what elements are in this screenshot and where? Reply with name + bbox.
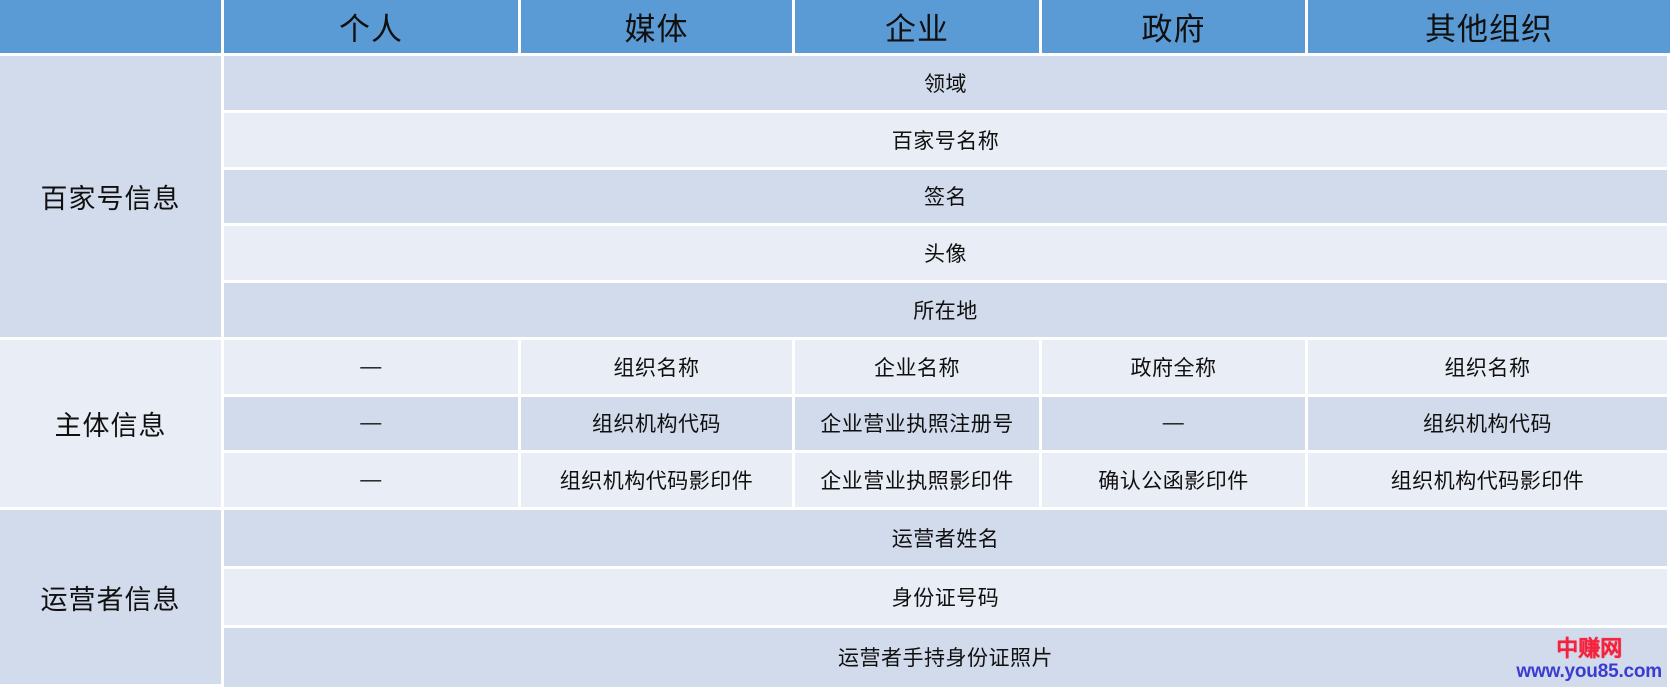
table-row: — 组织机构代码 企业营业执照注册号 — 组织机构代码 — [0, 397, 1670, 454]
cell-subject-name-other: 组织名称 — [1308, 340, 1670, 397]
cell-baijiahao-field-4: 所在地 — [224, 283, 1670, 340]
cell-subject-scan-other: 组织机构代码影印件 — [1308, 453, 1670, 510]
cell-operator-field-1: 身份证号码 — [224, 569, 1670, 628]
cell-subject-scan-person: — — [224, 453, 521, 510]
certification-requirements-table: 个人 媒体 企业 政府 其他组织 百家号信息 领域 百家号名称 签名 头像 — [0, 0, 1670, 687]
table-row: 百家号名称 — [0, 113, 1670, 170]
table-row: 运营者信息 运营者姓名 — [0, 510, 1670, 569]
cell-baijiahao-field-1: 百家号名称 — [224, 113, 1670, 170]
column-header-media: 媒体 — [521, 0, 795, 56]
table-row: 头像 — [0, 226, 1670, 283]
table-header: 个人 媒体 企业 政府 其他组织 — [0, 0, 1670, 56]
group-label-operator: 运营者信息 — [0, 510, 224, 687]
cell-subject-code-gov: — — [1042, 397, 1308, 454]
table-row: — 组织机构代码影印件 企业营业执照影印件 确认公函影印件 组织机构代码影印件 — [0, 453, 1670, 510]
column-header-person: 个人 — [224, 0, 521, 56]
cell-baijiahao-field-3: 头像 — [224, 226, 1670, 283]
group-label-baijiahao: 百家号信息 — [0, 56, 224, 340]
comparison-table-page: 个人 媒体 企业 政府 其他组织 百家号信息 领域 百家号名称 签名 头像 — [0, 0, 1670, 687]
table-row: 身份证号码 — [0, 569, 1670, 628]
cell-subject-code-media: 组织机构代码 — [521, 397, 795, 454]
cell-subject-name-media: 组织名称 — [521, 340, 795, 397]
header-corner-blank — [0, 0, 224, 56]
cell-operator-field-0: 运营者姓名 — [224, 510, 1670, 569]
column-header-gov: 政府 — [1042, 0, 1308, 56]
cell-subject-name-corp: 企业名称 — [795, 340, 1042, 397]
table-row: 所在地 — [0, 283, 1670, 340]
cell-subject-name-person: — — [224, 340, 521, 397]
cell-baijiahao-field-0: 领域 — [224, 56, 1670, 113]
table-row: 运营者手持身份证照片 — [0, 628, 1670, 687]
column-header-other: 其他组织 — [1308, 0, 1670, 56]
table-row: 签名 — [0, 170, 1670, 227]
header-row: 个人 媒体 企业 政府 其他组织 — [0, 0, 1670, 56]
cell-subject-code-corp: 企业营业执照注册号 — [795, 397, 1042, 454]
cell-subject-scan-gov: 确认公函影印件 — [1042, 453, 1308, 510]
cell-subject-code-person: — — [224, 397, 521, 454]
group-label-subject: 主体信息 — [0, 340, 224, 510]
cell-baijiahao-field-2: 签名 — [224, 170, 1670, 227]
cell-subject-scan-corp: 企业营业执照影印件 — [795, 453, 1042, 510]
cell-operator-field-2: 运营者手持身份证照片 — [224, 628, 1670, 687]
cell-subject-scan-media: 组织机构代码影印件 — [521, 453, 795, 510]
table-row: 百家号信息 领域 — [0, 56, 1670, 113]
cell-subject-code-other: 组织机构代码 — [1308, 397, 1670, 454]
table-row: 主体信息 — 组织名称 企业名称 政府全称 组织名称 — [0, 340, 1670, 397]
table-body: 百家号信息 领域 百家号名称 签名 头像 所在地 主体信息 — 组织名称 企业名… — [0, 56, 1670, 687]
column-header-corp: 企业 — [795, 0, 1042, 56]
cell-subject-name-gov: 政府全称 — [1042, 340, 1308, 397]
